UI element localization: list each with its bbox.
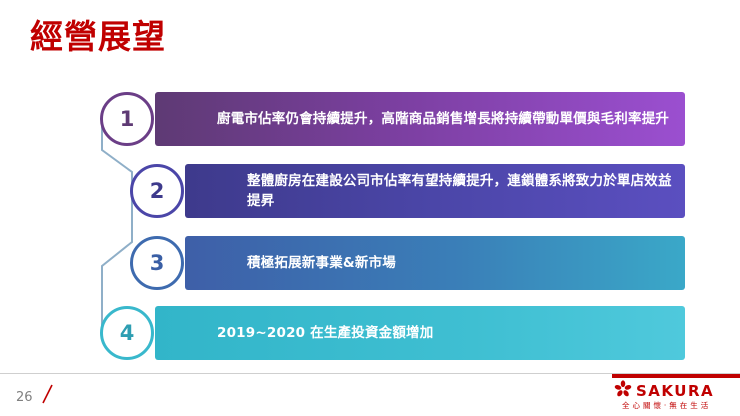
item-number-2: 2 — [130, 164, 184, 218]
item-number-3: 3 — [130, 236, 184, 290]
logo-accent-bar — [612, 374, 740, 378]
logo-wordmark: SAKURA — [636, 382, 714, 400]
slash-icon — [40, 383, 56, 405]
item-text-4: 2019~2020 在生產投資金額增加 — [217, 323, 433, 343]
item-text-1: 廚電市佔率仍會持續提升，高階商品銷售增長將持續帶動單價與毛利率提升 — [217, 109, 669, 129]
logo-tagline: 全 心 關 懷 ‧ 無 在 生 活 — [622, 400, 709, 411]
item-number-1: 1 — [100, 92, 154, 146]
item-number-4: 4 — [100, 306, 154, 360]
item-bar-4[interactable]: 2019~2020 在生產投資金額增加 — [155, 306, 685, 360]
page-number: 26 — [16, 390, 33, 405]
slide-canvas: 經營展望 廚電市佔率仍會持續提升，高階商品銷售增長將持續帶動單價與毛利率提升 1… — [0, 0, 740, 416]
item-text-3: 積極拓展新事業&新市場 — [247, 253, 396, 273]
page-title: 經營展望 — [30, 17, 166, 57]
sakura-logo: SAKURA 全 心 關 懷 ‧ 無 在 生 活 — [612, 374, 740, 416]
item-bar-2[interactable]: 整體廚房在建設公司市佔率有望持續提升，連鎖體系將致力於單店效益提昇 — [185, 164, 685, 218]
item-text-2: 整體廚房在建設公司市佔率有望持續提升，連鎖體系將致力於單店效益提昇 — [247, 171, 673, 211]
sakura-flower-icon — [614, 380, 632, 398]
item-bar-3[interactable]: 積極拓展新事業&新市場 — [185, 236, 685, 290]
item-bar-1[interactable]: 廚電市佔率仍會持續提升，高階商品銷售增長將持續帶動單價與毛利率提升 — [155, 92, 685, 146]
